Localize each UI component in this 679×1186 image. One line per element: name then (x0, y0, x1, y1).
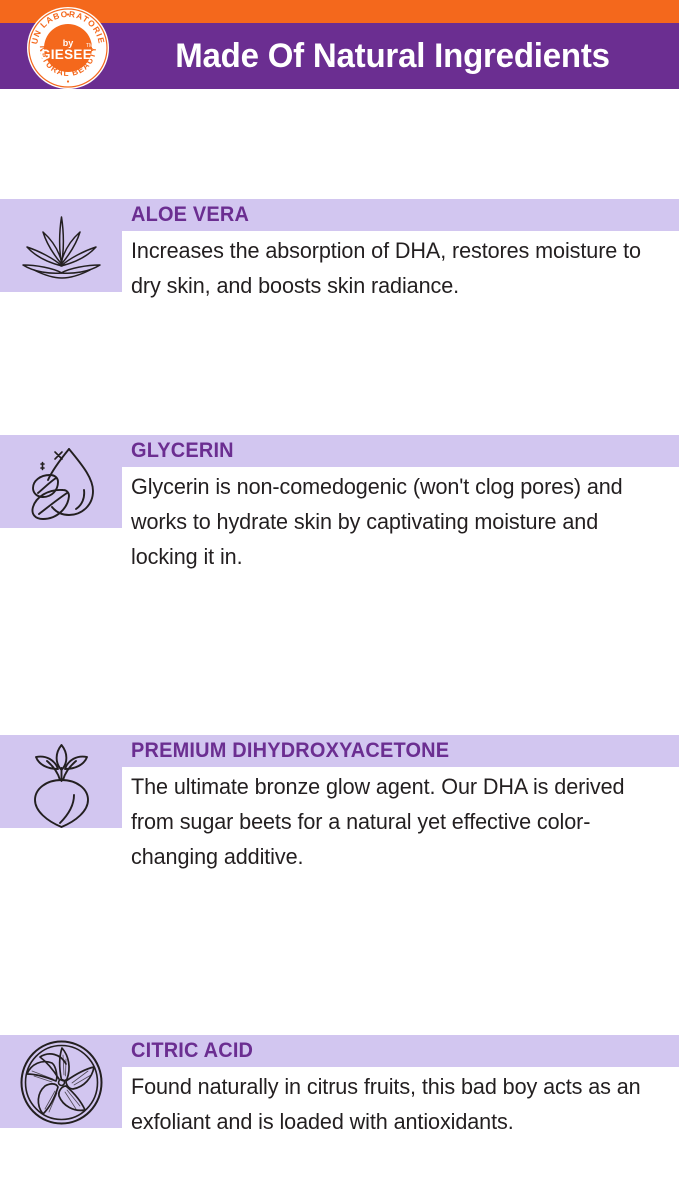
ingredient-description: Increases the absorption of DHA, restore… (131, 233, 649, 303)
svg-text:GIESEE: GIESEE (40, 47, 92, 62)
ingredient-heading: GLYCERIN (131, 439, 234, 463)
brand-logo: SUN LABORATORIES NATURAL BEAUTY by GIESE… (26, 6, 110, 90)
ingredient-description: Found naturally in citrus fruits, this b… (131, 1069, 649, 1139)
glycerin-droplet-icon (14, 435, 109, 530)
svg-text:TM: TM (86, 43, 93, 49)
infographic-page: Made Of Natural Ingredients SUN LABORATO… (0, 0, 679, 679)
ingredient-row-citric-acid: CITRIC ACID Found naturally in citrus fr… (0, 1035, 679, 1186)
aloe-vera-icon (14, 201, 109, 296)
ingredient-row-aloe-vera: ALOE VERA Increases the absorption of DH… (0, 199, 679, 317)
ingredient-heading: PREMIUM DIHYDROXYACETONE (131, 739, 449, 763)
header-banner: Made Of Natural Ingredients SUN LABORATO… (0, 0, 679, 89)
sugar-beet-icon (14, 735, 109, 830)
ingredient-row-dihydroxyacetone: PREMIUM DIHYDROXYACETONE The ultimate br… (0, 735, 679, 885)
ingredient-description: Glycerin is non-comedogenic (won't clog … (131, 469, 649, 574)
page-title: Made Of Natural Ingredients (128, 23, 657, 89)
ingredient-heading: CITRIC ACID (131, 1039, 253, 1063)
ingredient-row-glycerin: GLYCERIN Glycerin is non-comedogenic (wo… (0, 435, 679, 585)
ingredient-heading: ALOE VERA (131, 203, 249, 227)
citrus-slice-icon (14, 1035, 109, 1130)
ingredient-description: The ultimate bronze glow agent. Our DHA … (131, 769, 649, 874)
